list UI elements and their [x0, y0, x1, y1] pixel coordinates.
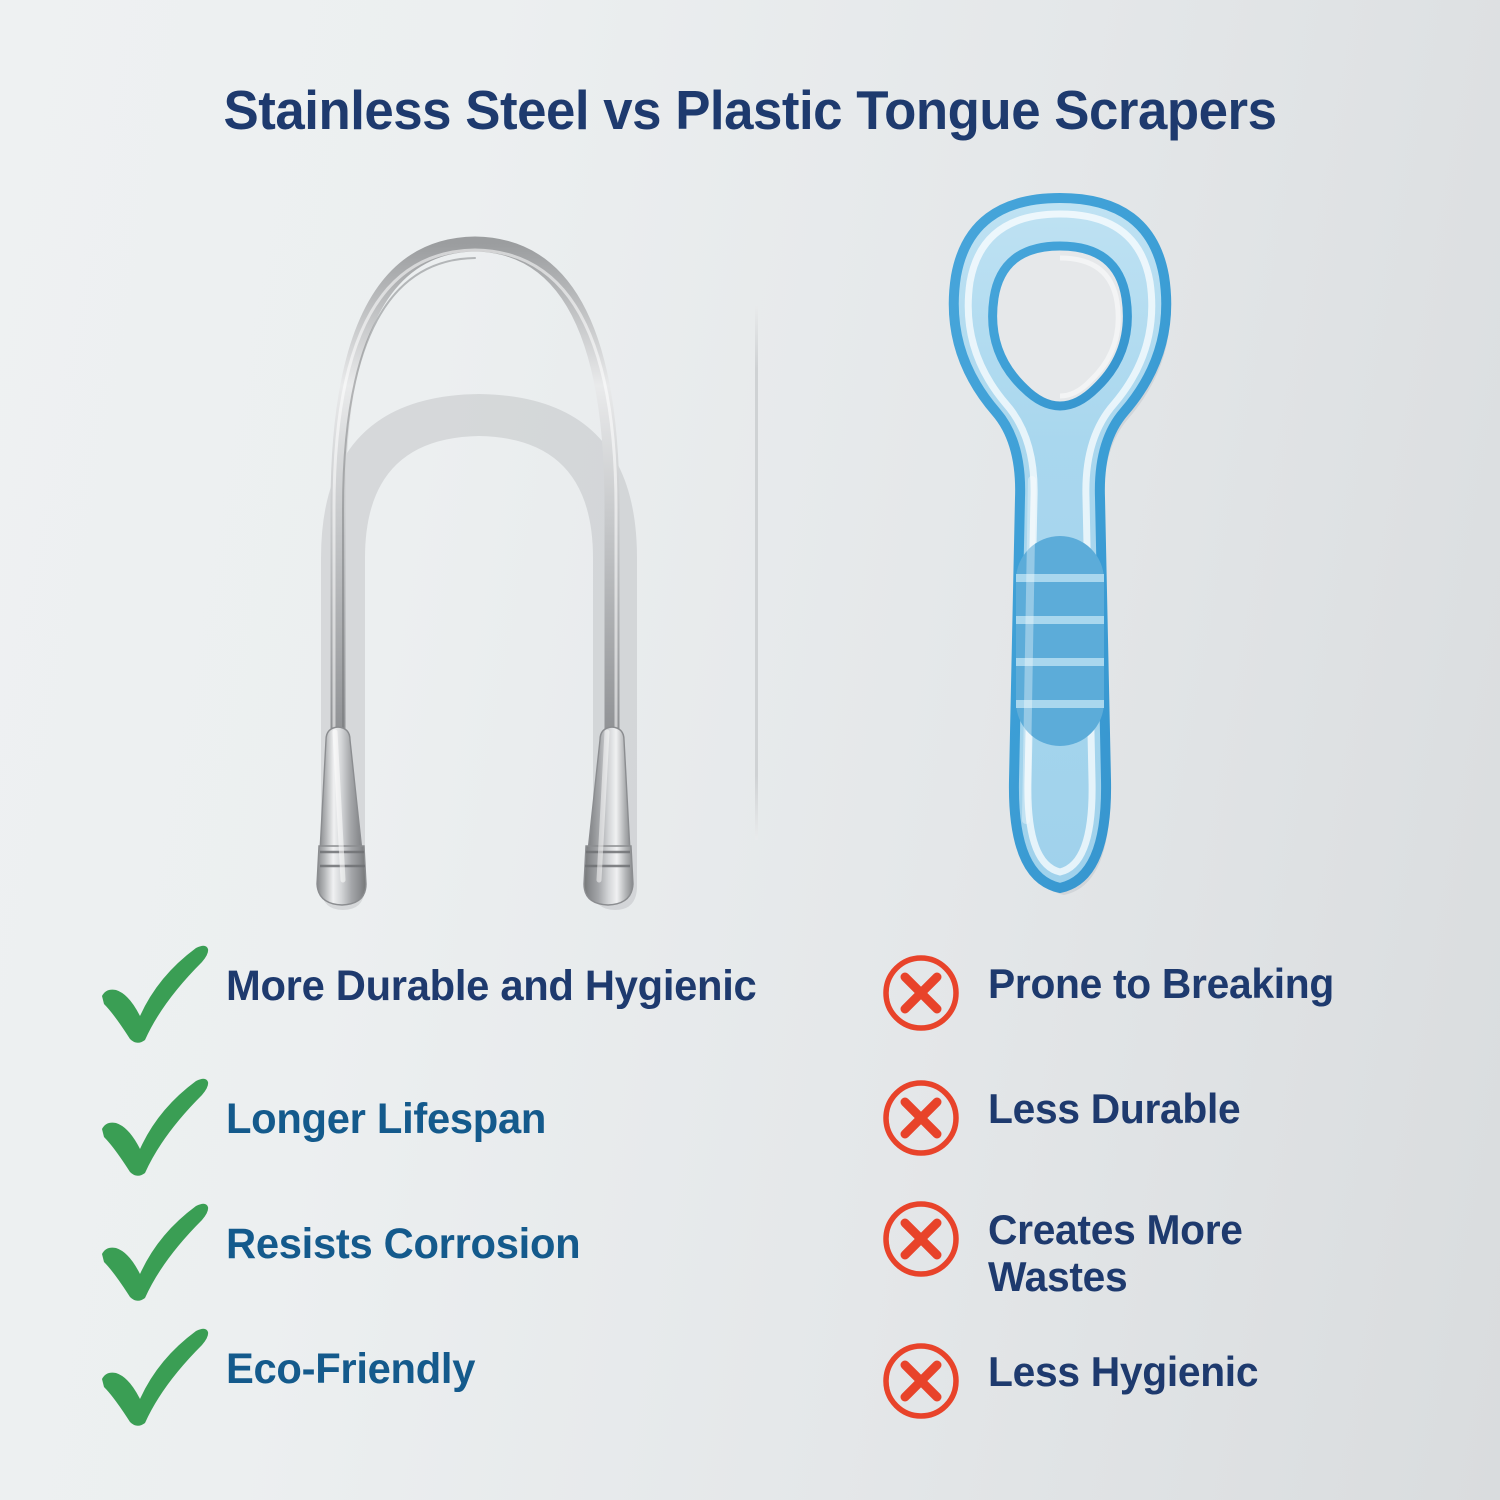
check-icon: [96, 1198, 226, 1302]
product-comparison-images: [0, 180, 1500, 925]
list-item-label: Less Hygienic: [988, 1348, 1258, 1395]
list-item: Prone to Breaking: [880, 952, 1345, 1034]
list-item: Resists Corrosion: [96, 1198, 591, 1302]
cross-circle-icon: [880, 1077, 988, 1159]
list-item-label: More Durable and Hygienic: [226, 962, 756, 1010]
page-title: Stainless Steel vs Plastic Tongue Scrape…: [30, 78, 1470, 142]
list-item: Longer Lifespan: [96, 1073, 556, 1177]
plastic-scraper-illustration: [928, 180, 1193, 925]
scraper-wire-arch: [338, 244, 612, 750]
list-item-label: Creates More Wastes: [988, 1206, 1337, 1300]
stainless-steel-scraper-illustration: [225, 180, 725, 925]
list-item-label: Prone to Breaking: [988, 960, 1334, 1007]
list-item: Less Durable: [880, 1077, 1248, 1159]
list-item-label: Longer Lifespan: [226, 1095, 546, 1143]
list-item-label: Eco-Friendly: [226, 1345, 475, 1393]
check-icon: [96, 1073, 226, 1177]
plastic-scraper-aperture: [993, 246, 1128, 406]
cross-circle-icon: [880, 952, 988, 1034]
comparison-lists: More Durable and Hygienic Longer Lifespa…: [0, 940, 1500, 1470]
list-item-label: Resists Corrosion: [226, 1220, 580, 1268]
vertical-divider: [755, 305, 758, 840]
list-item-label: Less Durable: [988, 1085, 1240, 1132]
check-icon: [96, 940, 226, 1044]
list-item: More Durable and Hygienic: [96, 940, 773, 1044]
cross-circle-icon: [880, 1198, 988, 1280]
check-icon: [96, 1323, 226, 1427]
cross-circle-icon: [880, 1340, 988, 1422]
list-item: Eco-Friendly: [96, 1323, 483, 1427]
list-item: Creates More Wastes: [880, 1198, 1348, 1300]
list-item: Less Hygienic: [880, 1340, 1267, 1422]
